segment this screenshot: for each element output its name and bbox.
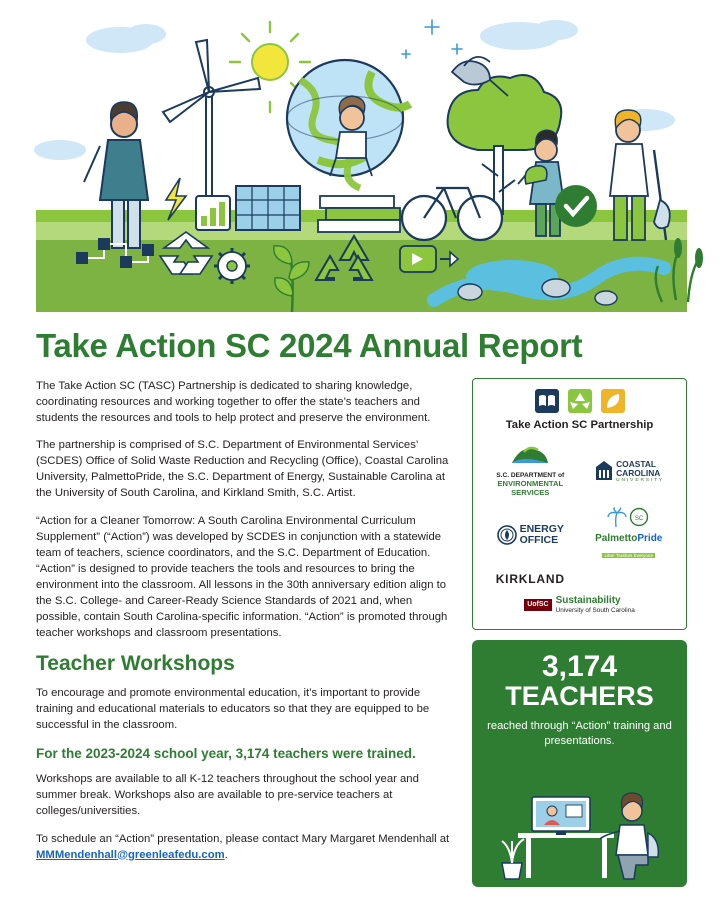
contact-email-link[interactable]: MMMendenhall@greenleafedu.com (36, 849, 225, 861)
partner-logo-energy-office: ENERGY OFFICE (481, 502, 580, 567)
partner-logo-coastal-carolina: COASTAL CAROLINA U N I V E R S I T Y (580, 440, 679, 502)
leaf-icon (600, 388, 626, 414)
right-column: Take Action SC Partnership S.C. DEPARTME… (472, 378, 687, 887)
kirkland-wordmark: KIRKLAND (496, 572, 565, 586)
intro-paragraph-3: “Action for a Cleaner Tomorrow: A South … (36, 513, 456, 641)
energy-office-seal-icon (497, 524, 517, 546)
partner-logo-uofsc-sustainability: UofSC Sustainability University of South… (481, 591, 678, 619)
hero-svg (0, 0, 723, 312)
page-title: Take Action SC 2024 Annual Report (36, 328, 687, 364)
teacher-workshops-heading: Teacher Workshops (36, 652, 456, 676)
energy-line2: OFFICE (520, 535, 564, 546)
palmettopride-tagline: Litter Trashes Everyone (602, 553, 655, 558)
book-icon (534, 388, 560, 414)
scdes-mark-icon (510, 445, 550, 467)
intro-paragraph-2: The partnership is comprised of S.C. Dep… (36, 437, 456, 501)
contact-text-pre: To schedule an “Action” presentation, pl… (36, 833, 449, 845)
stat-label: TEACHERS (482, 683, 677, 710)
partner-logo-palmettopride: SC PalmettoPride Litter Trashes Everyone (580, 502, 679, 567)
partner-logo-grid: S.C. DEPARTMENT of ENVIRONMENTAL SERVICE… (481, 440, 678, 619)
partner-icon-row (481, 388, 678, 414)
workshops-paragraph-3: To schedule an “Action” presentation, pl… (36, 831, 456, 863)
partner-logo-scdes: S.C. DEPARTMENT of ENVIRONMENTAL SERVICE… (481, 440, 580, 502)
coastal-carolina-crest-icon (595, 461, 613, 481)
workshops-paragraph-2: Workshops are available to all K-12 teac… (36, 771, 456, 819)
stat-subtext: reached through “Action” training and pr… (482, 719, 677, 749)
partners-box: Take Action SC Partnership S.C. DEPARTME… (472, 378, 687, 630)
sustainability-line1: Sustainability (556, 596, 635, 607)
contact-text-post: . (225, 849, 228, 861)
svg-text:SC: SC (635, 516, 644, 522)
content-area: The Take Action SC (TASC) Partnership is… (0, 364, 723, 887)
coastal-line2: CAROLINA (616, 469, 662, 478)
palmettopride-mark-icon: SC (606, 507, 652, 529)
partners-title: Take Action SC Partnership (481, 419, 678, 431)
partner-logo-kirkland: KIRKLAND (481, 567, 580, 591)
scdes-line3: SERVICES (496, 489, 564, 498)
hero-illustration (0, 0, 723, 312)
workshops-subheading: For the 2023-2024 school year, 3,174 tea… (36, 745, 456, 763)
stat-box: 3,174 TEACHERS reached through “Action” … (472, 640, 687, 887)
recycle-icon (567, 388, 593, 414)
intro-paragraph-1: The Take Action SC (TASC) Partnership is… (36, 378, 456, 426)
sustainability-line2: University of South Carolina (556, 607, 635, 614)
workshops-paragraph-1: To encourage and promote environmental e… (36, 685, 456, 733)
stat-number: 3,174 (482, 652, 677, 682)
left-column: The Take Action SC (TASC) Partnership is… (36, 378, 456, 887)
uofsc-badge: UofSC (524, 599, 551, 610)
stat-illustration (472, 775, 687, 887)
coastal-line3: U N I V E R S I T Y (616, 478, 662, 483)
